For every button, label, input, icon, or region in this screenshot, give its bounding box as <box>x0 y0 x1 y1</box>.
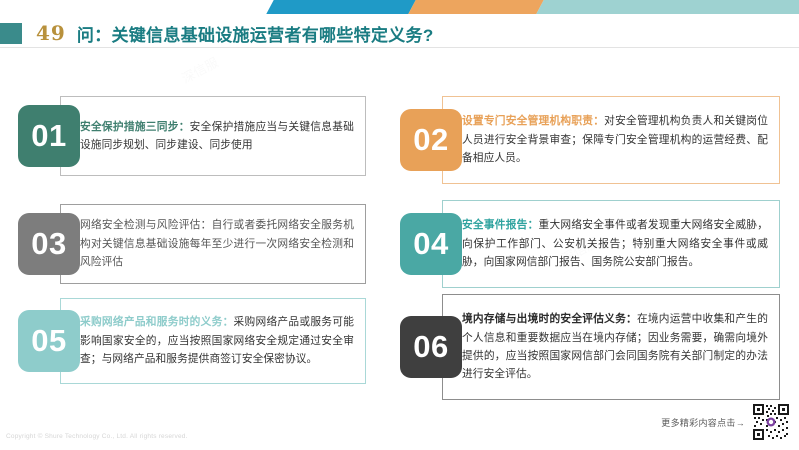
copyright-text: Copyright © Shure Technology Co., Ltd. A… <box>6 433 188 440</box>
slide-header: 49 问：关键信息基础设施运营者有哪些特定义务? <box>0 18 799 48</box>
top-bar-blue <box>266 0 415 14</box>
card-number-badge: 04 <box>400 213 462 275</box>
watermark: 深信服 <box>178 52 221 87</box>
card-heading: 安全事件报告： <box>462 219 539 231</box>
card-number-badge: 05 <box>18 310 80 372</box>
card-number-badge: 02 <box>400 109 462 171</box>
obligation-card-05[interactable]: 05 采购网络产品和服务时的义务：采购网络产品或服务可能影响国家安全的，应当按照… <box>18 298 366 384</box>
card-number-badge: 01 <box>18 105 80 167</box>
card-paragraph: 安全事件报告：重大网络安全事件或者发现重大网络安全威胁，向保护工作部门、公安机关… <box>462 216 768 271</box>
card-content: 设置专门安全管理机构职责：对安全管理机构负责人和关键岗位人员进行安全背景审查；保… <box>462 96 768 184</box>
card-paragraph: 境内存储与出境时的安全评估义务：在境内运营中收集和产生的个人信息和重要数据应当在… <box>462 310 768 384</box>
card-content: 境内存储与出境时的安全评估义务：在境内运营中收集和产生的个人信息和重要数据应当在… <box>462 294 768 400</box>
card-heading: 采购网络产品和服务时的义务： <box>80 316 234 328</box>
qr-code-icon[interactable] <box>751 402 791 442</box>
obligation-card-06[interactable]: 06 境内存储与出境时的安全评估义务：在境内运营中收集和产生的个人信息和重要数据… <box>400 294 780 400</box>
card-paragraph: 安全保护措施三同步：安全保护措施应当与关键信息基础设施同步规划、同步建设、同步使… <box>80 118 354 155</box>
header-accent-square <box>0 23 22 44</box>
card-paragraph: 采购网络产品和服务时的义务：采购网络产品或服务可能影响国家安全的，应当按照国家网… <box>80 313 354 368</box>
header-divider <box>0 47 799 48</box>
slide-canvas: 49 问：关键信息基础设施运营者有哪些特定义务? 深信服 深信服 01 安全保护… <box>0 0 799 450</box>
page-title: 问：关键信息基础设施运营者有哪些特定义务? <box>77 21 434 46</box>
card-number-badge: 03 <box>18 213 80 275</box>
top-bar-teal <box>536 0 799 14</box>
card-paragraph: 网络安全检测与风险评估：自行或者委托网络安全服务机构对关键信息基础设施每年至少进… <box>80 216 354 271</box>
card-content: 网络安全检测与风险评估：自行或者委托网络安全服务机构对关键信息基础设施每年至少进… <box>80 204 354 284</box>
card-content: 采购网络产品和服务时的义务：采购网络产品或服务可能影响国家安全的，应当按照国家网… <box>80 298 354 384</box>
more-content-cta[interactable]: 更多精彩内容点击→ <box>661 402 791 442</box>
card-heading: 境内存储与出境时的安全评估义务： <box>462 313 637 325</box>
card-number-badge: 06 <box>400 316 462 378</box>
obligation-card-01[interactable]: 01 安全保护措施三同步：安全保护措施应当与关键信息基础设施同步规划、同步建设、… <box>18 96 366 176</box>
top-bar-orange <box>408 0 543 14</box>
header-question-number: 49 <box>36 21 66 45</box>
obligation-card-02[interactable]: 02 设置专门安全管理机构职责：对安全管理机构负责人和关键岗位人员进行安全背景审… <box>400 96 780 184</box>
top-decoration-bars <box>0 0 799 14</box>
card-paragraph: 设置专门安全管理机构职责：对安全管理机构负责人和关键岗位人员进行安全背景审查；保… <box>462 112 768 167</box>
card-content: 安全保护措施三同步：安全保护措施应当与关键信息基础设施同步规划、同步建设、同步使… <box>80 96 354 176</box>
more-content-label: 更多精彩内容点击→ <box>661 416 745 429</box>
card-content: 安全事件报告：重大网络安全事件或者发现重大网络安全威胁，向保护工作部门、公安机关… <box>462 200 768 288</box>
card-heading: 设置专门安全管理机构职责： <box>462 115 604 127</box>
obligation-card-03[interactable]: 03 网络安全检测与风险评估：自行或者委托网络安全服务机构对关键信息基础设施每年… <box>18 204 366 284</box>
card-heading: 网络安全检测与风险评估： <box>80 219 212 231</box>
card-heading: 安全保护措施三同步： <box>80 121 190 133</box>
obligation-card-04[interactable]: 04 安全事件报告：重大网络安全事件或者发现重大网络安全威胁，向保护工作部门、公… <box>400 200 780 288</box>
